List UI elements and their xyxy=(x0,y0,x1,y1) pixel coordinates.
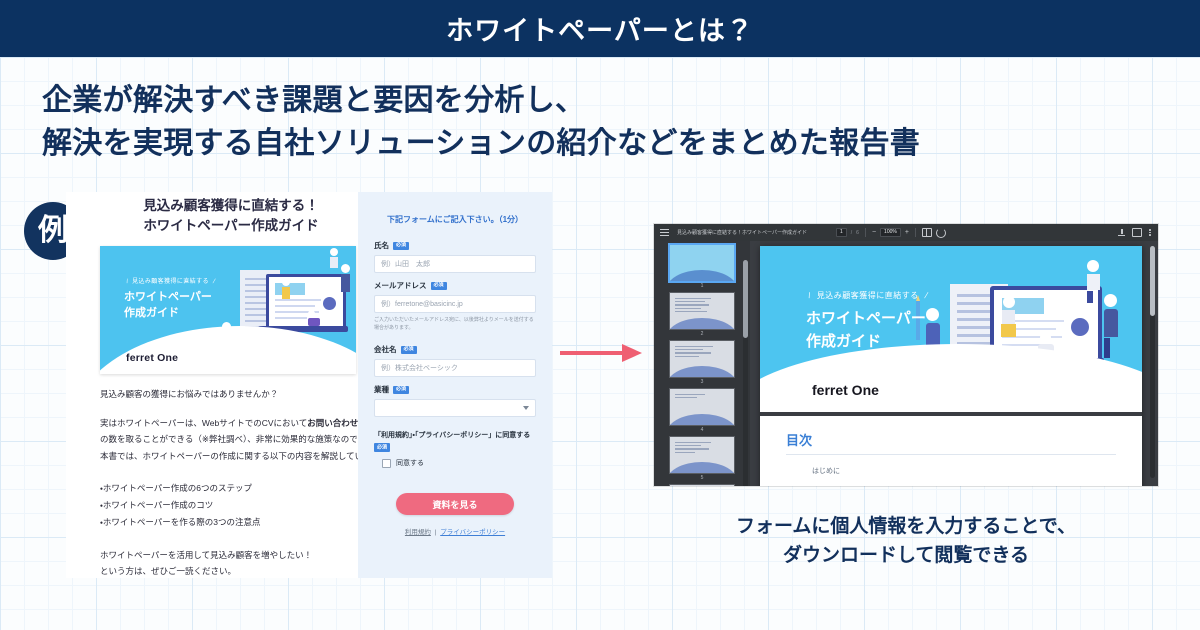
hero-logo: ferret One xyxy=(126,352,178,364)
pdf-thumbnail-number: 3 xyxy=(654,379,750,385)
form-field-email: メールアドレス 必須 例）ferretone@basicinc.jp ご入力いた… xyxy=(374,280,536,332)
zoom-level[interactable]: 100% xyxy=(880,228,901,237)
rotate-icon[interactable] xyxy=(936,228,946,238)
company-input[interactable]: 例）株式会社ベーシック xyxy=(374,359,536,377)
pdf-toc-heading: 目次 xyxy=(786,430,812,449)
laptop-icon xyxy=(266,274,346,332)
link-separator: | xyxy=(435,529,437,536)
download-icon[interactable] xyxy=(1118,229,1125,237)
form-heading: 下記フォームにご記入下さい。（1分） xyxy=(358,214,552,225)
pdf-scrollbar[interactable] xyxy=(1150,246,1155,478)
consent-checkbox-row[interactable]: 同意する xyxy=(374,458,536,468)
pdf-thumbnail-number: 5 xyxy=(654,475,750,481)
pdf-thumbnail-1[interactable] xyxy=(670,245,734,281)
contact-form-panel: 下記フォームにご記入下さい。（1分） 氏名 必須 例）山田 太郎 メールアドレス… xyxy=(358,192,552,578)
pdf-toc-rule xyxy=(786,454,1116,455)
email-input-placeholder: 例）ferretone@basicinc.jp xyxy=(381,299,463,309)
zoom-out-button[interactable]: − xyxy=(872,229,876,236)
field-label: 会社名 必須 xyxy=(374,344,536,355)
person-figure xyxy=(330,248,338,270)
industry-select[interactable] xyxy=(374,399,536,417)
form-footer-links: 利用規約 | プライバシーポリシー xyxy=(358,526,552,536)
hero-title: ホワイトペーパー 作成ガイド xyxy=(124,290,212,322)
pdf-cover-title-line-2: 作成ガイド xyxy=(806,331,926,354)
person-figure xyxy=(341,264,350,304)
pdf-cover-title-line-1: ホワイトペーパー xyxy=(806,308,926,331)
paragraph-line-2: の数を取ることができる（※弊社調べ）、非常に効果的な施策なのです。 xyxy=(100,434,374,444)
pdf-thumbnail-4[interactable] xyxy=(670,389,734,425)
landing-page-title-line-1: 見込み顧客獲得に直結する！ xyxy=(106,196,356,216)
caption-line-2: ダウンロードして閲覧できる xyxy=(654,541,1158,570)
menu-icon[interactable] xyxy=(660,229,669,237)
pdf-cover-kicker: \見込み顧客獲得に直結する/ xyxy=(802,290,933,301)
paragraph-line-3: 本書では、ホワイトペーパーの作成に関する以下の内容を解説しています。 xyxy=(100,451,388,461)
header-title: ホワイトペーパーとは？ xyxy=(446,9,754,48)
person-figure xyxy=(282,278,290,306)
paragraph-line-1a: 実はホワイトペーパーは、WebサイトでのCVにおいて xyxy=(100,418,307,428)
flow-arrow-icon xyxy=(560,344,646,362)
caption-line-1: フォームに個人情報を入力することで、 xyxy=(654,512,1158,541)
email-input[interactable]: 例）ferretone@basicinc.jp xyxy=(374,295,536,313)
person-figure xyxy=(1104,294,1118,358)
pdf-thumbnail-sidebar[interactable]: 1 2 3 4 5 xyxy=(654,241,750,486)
pdf-caption: フォームに個人情報を入力することで、 ダウンロードして閲覧できる xyxy=(654,512,1158,571)
example-badge-label: 例 xyxy=(38,216,68,246)
landing-page-title-line-2: ホワイトペーパー作成ガイド xyxy=(106,216,356,236)
pdf-toc-item: はじめに xyxy=(812,466,840,476)
more-icon[interactable] xyxy=(1149,229,1151,236)
thumbnail-scrollbar-knob[interactable] xyxy=(743,260,748,338)
pdf-toolbar: 見込み顧客獲得に直結する！ホワイトペーパー作成ガイド 1 / 6 − 100% … xyxy=(654,224,1158,241)
email-note: ご入力いただいたメールアドレス宛に、以後弊社よりメールを送付する場合があります。 xyxy=(374,316,536,332)
print-icon[interactable] xyxy=(1132,228,1142,237)
consent-checkbox-label: 同意する xyxy=(396,458,424,468)
current-page-input[interactable]: 1 xyxy=(836,228,847,237)
pdf-thumbnail-2[interactable] xyxy=(670,293,734,329)
headline: 企業が解決すべき課題と要因を分析し、 解決を実現する自社ソリューションの紹介など… xyxy=(42,80,1192,165)
pdf-thumbnail-6[interactable] xyxy=(670,485,734,486)
pdf-thumbnail-number: 1 xyxy=(654,283,750,289)
headline-line-1: 企業が解決すべき課題と要因を分析し、 xyxy=(42,84,585,117)
submit-button[interactable]: 資料を見る xyxy=(396,493,514,515)
terms-link[interactable]: 利用規約 xyxy=(405,529,431,536)
pdf-thumbnail-3[interactable] xyxy=(670,341,734,377)
person-figure xyxy=(308,310,320,326)
total-pages: 6 xyxy=(856,230,859,236)
field-label: メールアドレス 必須 xyxy=(374,280,536,291)
consent-text: 「利用規約」・「プライバシーポリシー」に同意する 必須 xyxy=(374,430,536,452)
pdf-cover-title: ホワイトペーパー 作成ガイド xyxy=(806,308,926,353)
pdf-thumbnail-number: 4 xyxy=(654,427,750,433)
pdf-toolbar-actions xyxy=(1118,224,1151,241)
name-input[interactable]: 例）山田 太郎 xyxy=(374,255,536,273)
page-separator: / xyxy=(851,230,852,236)
name-input-placeholder: 例）山田 太郎 xyxy=(381,259,430,269)
required-badge: 必須 xyxy=(374,443,390,452)
consent-checkbox[interactable] xyxy=(382,459,391,468)
person-figure xyxy=(1002,296,1015,337)
required-badge: 必須 xyxy=(431,282,447,290)
pdf-page-controls: 1 / 6 − 100% + xyxy=(836,224,946,241)
required-badge: 必須 xyxy=(393,386,409,394)
privacy-link[interactable]: プライバシーポリシー xyxy=(440,529,505,536)
pdf-page-content: \見込み顧客獲得に直結する/ ホワイトペーパー 作成ガイド ferret One… xyxy=(760,246,1142,486)
pdf-thumbnail-number: 2 xyxy=(654,331,750,337)
person-figure xyxy=(1087,260,1100,303)
chevron-down-icon xyxy=(523,406,529,410)
page-view-icon[interactable] xyxy=(922,228,932,237)
field-label: 氏名 必須 xyxy=(374,240,536,251)
required-badge: 必須 xyxy=(401,346,417,354)
thumbnail-scrollbar[interactable] xyxy=(743,260,748,486)
pdf-document-title: 見込み顧客獲得に直結する！ホワイトペーパー作成ガイド xyxy=(677,229,807,236)
screenshot-root: ホワイトペーパーとは？ 企業が解決すべき課題と要因を分析し、 解決を実現する自社… xyxy=(0,0,1200,630)
pdf-scrollbar-knob[interactable] xyxy=(1150,246,1155,316)
submit-button-label: 資料を見る xyxy=(432,498,477,511)
zoom-in-button[interactable]: + xyxy=(905,229,909,236)
pdf-thumbnail-5[interactable] xyxy=(670,437,734,473)
form-field-name: 氏名 必須 例）山田 太郎 xyxy=(374,240,536,273)
pdf-viewer: 見込み顧客獲得に直結する！ホワイトペーパー作成ガイド 1 / 6 − 100% … xyxy=(654,224,1158,486)
consent-block: 「利用規約」・「プライバシーポリシー」に同意する 必須 同意する xyxy=(374,430,536,468)
header-bar: ホワイトペーパーとは？ xyxy=(0,0,1200,57)
hero-title-line-1: ホワイトペーパー xyxy=(124,290,212,306)
required-badge: 必須 xyxy=(393,242,409,250)
landing-page-title: 見込み顧客獲得に直結する！ ホワイトペーパー作成ガイド xyxy=(106,196,356,235)
company-input-placeholder: 例）株式会社ベーシック xyxy=(381,363,458,373)
form-field-industry: 業種 必須 xyxy=(374,384,536,417)
hero-kicker: \見込み顧客獲得に直結する/ xyxy=(122,276,219,285)
pdf-page-2: 目次 はじめに xyxy=(760,416,1142,486)
hero-title-line-2: 作成ガイド xyxy=(124,306,212,322)
field-label: 業種 必須 xyxy=(374,384,536,395)
pdf-cover-logo: ferret One xyxy=(812,382,879,398)
headline-line-2: 解決を実現する自社ソリューションの紹介などをまとめた報告書 xyxy=(42,123,1192,166)
landing-page-hero-image: \見込み顧客獲得に直結する/ ホワイトペーパー 作成ガイド ferret One xyxy=(100,246,356,374)
form-field-company: 会社名 必須 例）株式会社ベーシック xyxy=(374,344,536,377)
